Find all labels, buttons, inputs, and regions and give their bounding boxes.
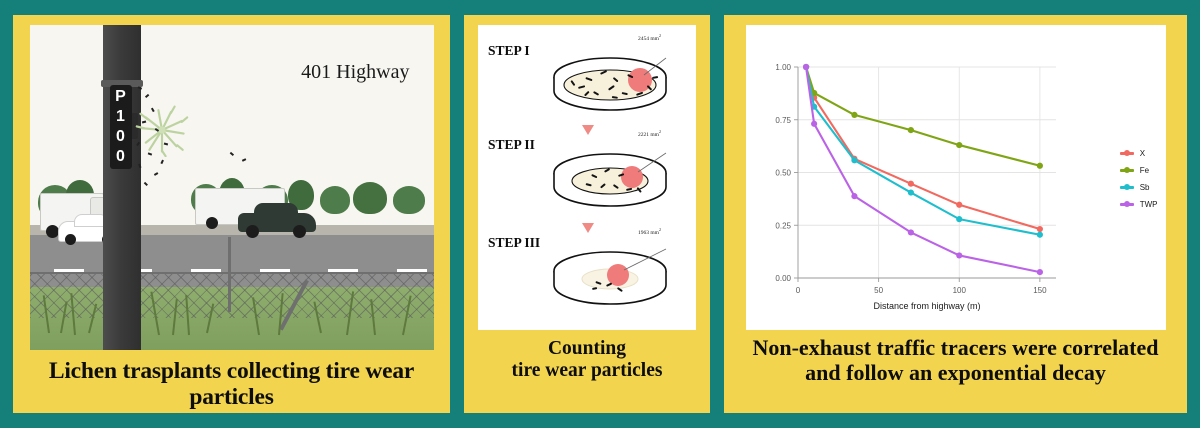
series-line-sb xyxy=(806,67,1040,235)
data-point-x xyxy=(1036,226,1042,232)
x-tick-label: 100 xyxy=(952,286,966,295)
legend-label: TWP xyxy=(1140,200,1158,209)
area-label-3: 1963 mm2 xyxy=(638,227,661,236)
legend-label: Sb xyxy=(1140,183,1150,192)
area-value-1: 2454 mm xyxy=(638,36,659,42)
right-caption-line-1: Non-exhaust traffic tracers were correla… xyxy=(752,336,1158,361)
legend-swatch-icon xyxy=(1119,166,1135,176)
area-unit-3: 2 xyxy=(659,227,661,232)
data-point-fe xyxy=(907,127,913,133)
area-label-1: 2454 mm2 xyxy=(638,33,661,42)
data-point-fe xyxy=(851,112,857,118)
area-value-3: 1963 mm xyxy=(638,230,659,236)
step-label-2: STEP II xyxy=(488,137,535,153)
chart-legend: XFeSbTWP xyxy=(1119,145,1158,213)
right-panel-caption: Non-exhaust traffic tracers were correla… xyxy=(752,336,1158,385)
data-point-twp xyxy=(956,252,962,258)
middle-caption-line-1: Counting xyxy=(512,338,663,360)
y-tick-label: 0.75 xyxy=(775,116,791,125)
legend-swatch-icon xyxy=(1119,149,1135,159)
area-label-2: 2221 mm2 xyxy=(638,129,661,138)
left-panel-caption: Lichen trasplants collecting tire wear p… xyxy=(13,358,450,411)
plot-area: 0.000.250.500.751.00050100150Distance fr… xyxy=(746,25,1166,330)
data-point-sb xyxy=(851,157,857,163)
data-point-x xyxy=(956,202,962,208)
fence-post xyxy=(228,237,231,312)
pole-sign-char: 0 xyxy=(116,127,125,147)
x-tick-label: 150 xyxy=(1033,286,1047,295)
petri-dish-3 xyxy=(548,241,673,319)
legend-item-twp[interactable]: TWP xyxy=(1119,196,1158,213)
legend-label: X xyxy=(1140,149,1145,158)
middle-caption-line-2: tire wear particles xyxy=(512,360,663,382)
pole-sign-char: 1 xyxy=(116,107,125,127)
data-point-fe xyxy=(1036,163,1042,169)
highway-label: 401 Highway xyxy=(301,61,409,84)
petri-dish-1 xyxy=(548,47,673,125)
legend-label: Fe xyxy=(1140,166,1149,175)
legend-item-sb[interactable]: Sb xyxy=(1119,179,1158,196)
data-point-sb xyxy=(907,189,913,195)
flow-arrow-1 xyxy=(582,125,594,135)
dark-car-roof xyxy=(254,203,298,216)
fence-rail xyxy=(30,272,434,274)
data-point-twp xyxy=(802,64,808,70)
data-point-fe xyxy=(956,142,962,148)
data-point-twp xyxy=(1036,269,1042,275)
legend-item-x[interactable]: X xyxy=(1119,145,1158,162)
lichen-icon xyxy=(135,103,189,157)
y-tick-label: 0.50 xyxy=(775,169,791,178)
middle-panel-caption: Counting tire wear particles xyxy=(512,338,663,382)
legend-item-fe[interactable]: Fe xyxy=(1119,162,1158,179)
right-caption-line-2: and follow an exponential decay xyxy=(752,361,1158,386)
y-tick-label: 0.25 xyxy=(775,221,791,230)
series-line-twp xyxy=(806,67,1040,272)
step-label-3: STEP III xyxy=(488,235,540,251)
y-tick-label: 0.00 xyxy=(775,274,791,283)
series-line-fe xyxy=(806,67,1040,166)
graphical-abstract: P 1 0 0 401 Highway Lichen trasplants co… xyxy=(0,0,1200,428)
data-point-sb xyxy=(1036,232,1042,238)
x-axis-title: Distance from highway (m) xyxy=(873,301,980,311)
decay-chart: 0.000.250.500.751.00050100150Distance fr… xyxy=(746,25,1166,330)
left-illustration: P 1 0 0 401 Highway xyxy=(30,25,434,350)
flow-arrow-2 xyxy=(582,223,594,233)
panel-counting-particles: STEP I xyxy=(461,12,713,416)
area-value-2: 2221 mm xyxy=(638,132,659,138)
legend-swatch-icon xyxy=(1119,183,1135,193)
area-unit-1: 2 xyxy=(659,33,661,38)
legend-swatch-icon xyxy=(1119,200,1135,210)
x-tick-label: 50 xyxy=(874,286,883,295)
utility-pole xyxy=(103,25,141,350)
panel-lichen-transplants: P 1 0 0 401 Highway Lichen trasplants co… xyxy=(10,12,453,416)
data-point-twp xyxy=(907,229,913,235)
y-tick-label: 1.00 xyxy=(775,63,791,72)
data-point-x xyxy=(907,181,913,187)
petri-dish-2 xyxy=(548,143,673,221)
data-point-twp xyxy=(811,121,817,127)
data-point-twp xyxy=(851,193,857,199)
chart-svg: 0.000.250.500.751.00050100150Distance fr… xyxy=(746,25,1166,330)
x-tick-label: 0 xyxy=(795,286,800,295)
area-unit-2: 2 xyxy=(659,129,661,134)
panel-tracer-decay-chart: 0.000.250.500.751.00050100150Distance fr… xyxy=(721,12,1190,416)
data-point-sb xyxy=(956,216,962,222)
middle-illustration: STEP I xyxy=(478,25,696,330)
pole-sign-char: P xyxy=(115,87,126,107)
pole-sign-p100: P 1 0 0 xyxy=(110,85,132,169)
series-line-x xyxy=(806,67,1040,229)
step-label-1: STEP I xyxy=(488,43,530,59)
pole-sign-char: 0 xyxy=(116,147,125,167)
